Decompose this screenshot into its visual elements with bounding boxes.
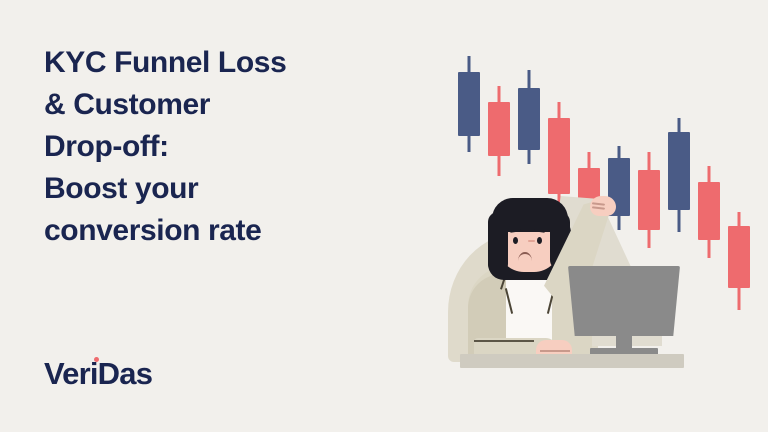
candlestick-body-2	[488, 102, 510, 156]
candlestick-body-3	[518, 88, 540, 150]
nose	[528, 240, 535, 242]
eye-right	[537, 237, 542, 244]
slide-canvas: KYC Funnel Loss & Customer Drop-off: Boo…	[0, 0, 768, 432]
candlestick-body-4	[548, 118, 570, 194]
logo-accent-dot	[94, 357, 99, 362]
page-title: KYC Funnel Loss & Customer Drop-off: Boo…	[44, 42, 404, 252]
hair-side-left	[488, 212, 508, 274]
sleeve-crease	[474, 340, 534, 342]
veridas-logo: VeriDas	[44, 356, 152, 390]
desk-surface	[460, 354, 684, 368]
monitor-screen	[568, 266, 680, 336]
candlestick-body-1	[458, 72, 480, 136]
hand-resting-crease	[540, 350, 570, 352]
eye-left	[513, 237, 518, 244]
computer-monitor	[568, 266, 680, 366]
logo-text: VeriDas	[44, 358, 152, 390]
